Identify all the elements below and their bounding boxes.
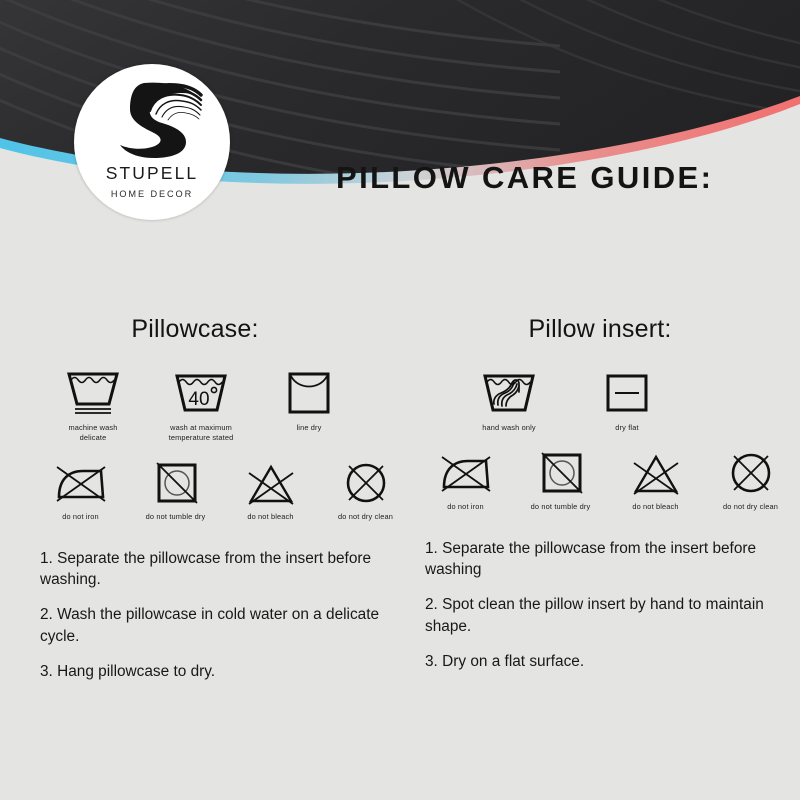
do-not-dry-clean-icon xyxy=(726,445,776,497)
do-not-dry-clean-icon xyxy=(341,455,391,507)
pillowcase-section: Pillowcase: machine wash delicate 40 xyxy=(40,315,410,696)
symbol-do-not-iron: do not iron xyxy=(428,445,504,512)
wash-40-degrees-icon: 40 xyxy=(172,366,230,418)
list-item: 1. Separate the pillowcase from the inse… xyxy=(40,548,388,591)
do-not-bleach-icon xyxy=(243,455,299,507)
symbol-caption: do not bleach xyxy=(247,512,293,522)
symbol-do-not-iron: do not iron xyxy=(43,455,119,522)
symbol-do-not-dry-clean: do not dry clean xyxy=(328,455,404,522)
pillowcase-symbols-row-1: machine wash delicate 40 wash at maximum… xyxy=(40,366,410,443)
symbol-caption: do not iron xyxy=(62,512,99,522)
pillow-insert-heading: Pillow insert: xyxy=(425,315,795,344)
symbol-caption: do not bleach xyxy=(632,502,678,512)
insert-symbols-row-2: do not iron do not tumble dry do not xyxy=(425,445,795,512)
symbol-line-dry: line dry xyxy=(271,366,347,433)
pillowcase-symbols-row-2: do not iron do not tumble dry do not xyxy=(40,455,410,522)
machine-wash-delicate-icon xyxy=(64,366,122,418)
brand-logo: STUPELL HOME DECOR xyxy=(74,64,230,220)
list-item: 2. Wash the pillowcase in cold water on … xyxy=(40,604,388,647)
insert-symbols-row-1: hand wash only dry flat xyxy=(425,366,795,433)
symbol-caption: do not dry clean xyxy=(338,512,393,522)
symbol-machine-wash-delicate: machine wash delicate xyxy=(55,366,131,443)
stupell-swirl-s-logo-icon xyxy=(100,77,204,161)
symbol-caption: do not dry clean xyxy=(723,502,778,512)
do-not-iron-icon xyxy=(438,445,494,497)
list-item: 1. Separate the pillowcase from the inse… xyxy=(425,538,765,581)
symbol-caption: hand wash only xyxy=(482,423,535,433)
do-not-tumble-dry-icon xyxy=(151,455,201,507)
page-title: PILLOW CARE GUIDE: xyxy=(336,160,713,196)
do-not-tumble-dry-icon xyxy=(536,445,586,497)
symbol-caption: wash at maximum temperature stated xyxy=(163,423,239,443)
symbol-caption: dry flat xyxy=(615,423,638,433)
symbol-do-not-tumble-dry: do not tumble dry xyxy=(523,445,599,512)
symbol-caption: machine wash delicate xyxy=(55,423,131,443)
list-item: 3. Hang pillowcase to dry. xyxy=(40,661,388,682)
symbol-do-not-bleach: do not bleach xyxy=(618,445,694,512)
symbol-caption: do not tumble dry xyxy=(531,502,591,512)
list-item: 2. Spot clean the pillow insert by hand … xyxy=(425,594,765,637)
list-item: 3. Dry on a flat surface. xyxy=(425,651,765,672)
dry-flat-icon xyxy=(602,366,652,418)
symbol-do-not-tumble-dry: do not tumble dry xyxy=(138,455,214,522)
hand-wash-only-icon xyxy=(480,366,538,418)
pillowcase-heading: Pillowcase: xyxy=(40,315,410,344)
symbol-do-not-bleach: do not bleach xyxy=(233,455,309,522)
logo-wordmark: STUPELL xyxy=(106,165,199,183)
logo-tagline: HOME DECOR xyxy=(111,189,193,199)
pillow-insert-section: Pillow insert: hand wash only xyxy=(425,315,795,686)
symbol-wash-40-degrees: 40 wash at maximum temperature stated xyxy=(163,366,239,443)
pillow-insert-steps: 1. Separate the pillowcase from the inse… xyxy=(425,538,765,672)
do-not-iron-icon xyxy=(53,455,109,507)
symbol-dry-flat: dry flat xyxy=(589,366,665,433)
do-not-bleach-icon xyxy=(628,445,684,497)
svg-text:40: 40 xyxy=(188,389,209,410)
symbol-caption: do not tumble dry xyxy=(146,512,206,522)
pillowcase-steps: 1. Separate the pillowcase from the inse… xyxy=(40,548,388,682)
line-dry-icon xyxy=(284,366,334,418)
symbol-do-not-dry-clean: do not dry clean xyxy=(713,445,789,512)
symbol-caption: do not iron xyxy=(447,502,484,512)
symbol-hand-wash-only: hand wash only xyxy=(471,366,547,433)
symbol-caption: line dry xyxy=(296,423,321,433)
